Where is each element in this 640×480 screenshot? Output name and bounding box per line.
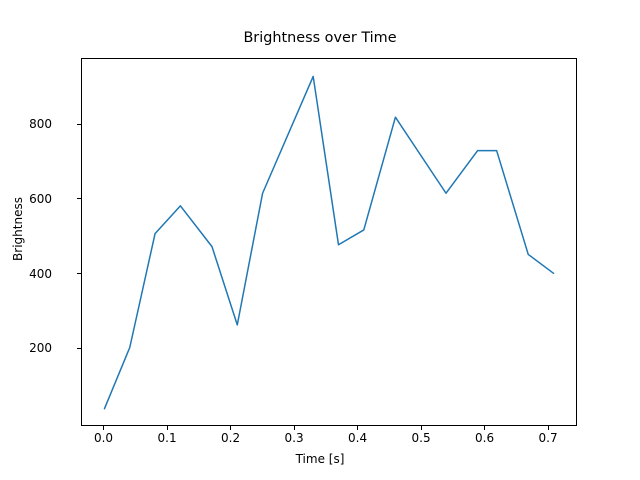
y-tick-mark <box>77 124 81 125</box>
x-tick-label: 0.7 <box>539 431 558 445</box>
y-tick-mark <box>77 348 81 349</box>
x-tick-label: 0.5 <box>412 431 431 445</box>
x-tick-mark <box>294 426 295 430</box>
x-tick-label: 0.3 <box>285 431 304 445</box>
x-tick-mark <box>167 426 168 430</box>
x-tick-label: 0.0 <box>94 431 113 445</box>
x-tick-mark <box>484 426 485 430</box>
y-tick-mark <box>77 273 81 274</box>
y-axis-label: Brightness <box>11 129 25 329</box>
chart-title: Brightness over Time <box>0 30 640 46</box>
y-tick-label: 200 <box>29 341 52 355</box>
x-tick-mark <box>103 426 104 430</box>
y-tick-label: 800 <box>29 117 52 131</box>
x-tick-mark <box>357 426 358 430</box>
y-tick-label: 400 <box>29 267 52 281</box>
y-tick-mark <box>77 198 81 199</box>
x-axis-label: Time [s] <box>0 452 640 466</box>
plot-axes <box>81 58 577 426</box>
x-tick-label: 0.1 <box>158 431 177 445</box>
x-tick-label: 0.4 <box>348 431 367 445</box>
x-tick-mark <box>548 426 549 430</box>
matplotlib-figure: Brightness over Time 0.00.10.20.30.40.50… <box>0 0 640 480</box>
brightness-line <box>104 76 553 408</box>
x-tick-mark <box>230 426 231 430</box>
x-tick-label: 0.2 <box>221 431 240 445</box>
x-tick-mark <box>421 426 422 430</box>
y-tick-label: 600 <box>29 192 52 206</box>
line-series-svg <box>82 59 576 425</box>
x-tick-label: 0.6 <box>475 431 494 445</box>
